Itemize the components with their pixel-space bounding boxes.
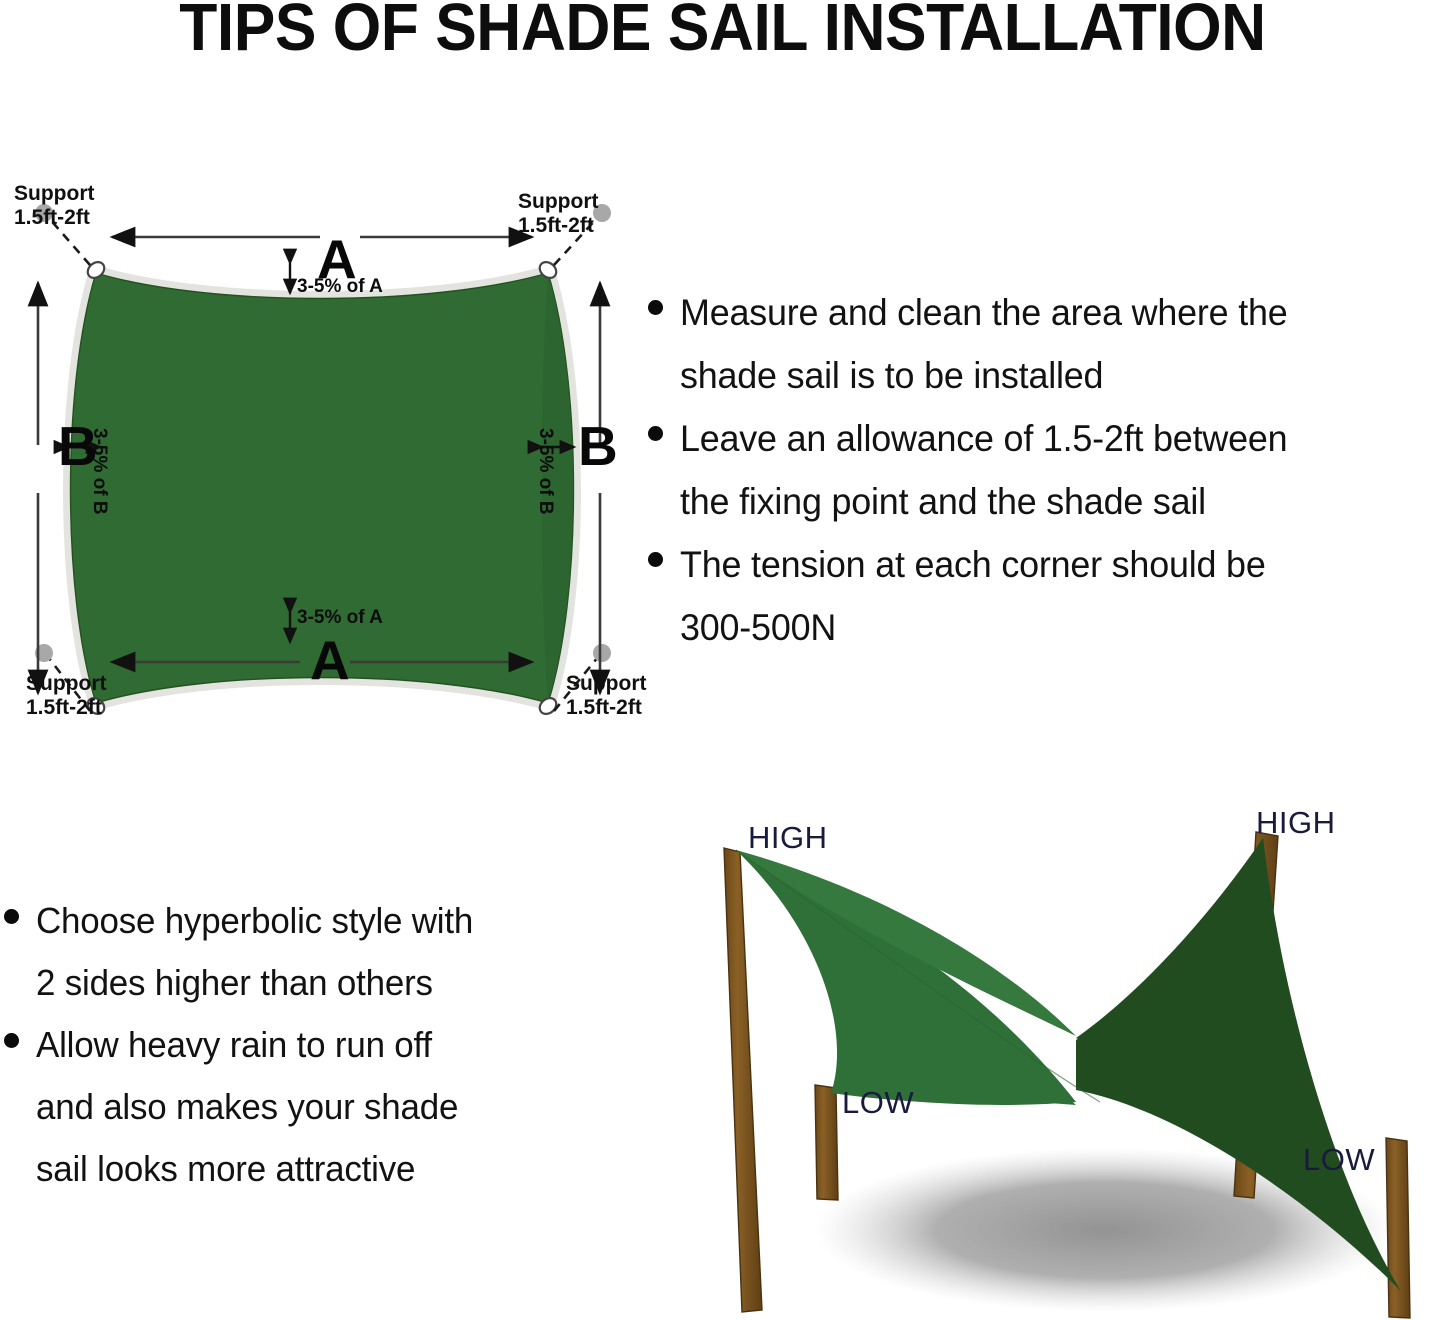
support-label-top-left: Support 1.5ft-2ft [14,182,94,230]
support-label-bottom-right: Support 1.5ft-2ft [566,672,646,720]
bullet-dot-icon [648,426,663,441]
post-low-left [815,1085,838,1200]
tip-text: Allow heavy rain to run off and also mak… [36,1014,458,1200]
support-label-bottom-left: Support 1.5ft-2ft [26,672,106,720]
label-low-left: LOW [842,1085,914,1121]
label-high-right: HIGH [1256,805,1336,841]
list-item: Leave an allowance of 1.5-2ft between th… [648,407,1445,533]
bullet-dot-icon [648,300,663,315]
support-dot-bottom-right [593,644,611,662]
support-label-line1: Support [14,182,94,205]
post-high-left [724,848,762,1312]
curve-label-right: 3-5% of B [534,428,556,515]
tip-text: Measure and clean the area where the sha… [680,281,1288,407]
label-low-right: LOW [1303,1142,1375,1178]
support-label-line1: Support [26,672,106,695]
dimension-letter-right-B: B [578,419,618,474]
tip-text: Choose hyperbolic style with 2 sides hig… [36,890,473,1014]
support-label-line2: 1.5ft-2ft [518,214,594,237]
bullet-dot-icon [4,909,19,924]
bullet-dot-icon [4,1033,19,1048]
support-label-line2: 1.5ft-2ft [26,696,102,719]
dimension-letter-bottom-A: A [310,633,350,688]
support-label-line2: 1.5ft-2ft [566,696,642,719]
support-label-line1: Support [518,190,598,213]
list-item: Allow heavy rain to run off and also mak… [4,1014,624,1200]
page-title: TIPS OF SHADE SAIL INSTALLATION [51,0,1395,61]
tip-text: The tension at each corner should be 300… [680,533,1266,659]
post-low-right [1386,1138,1410,1318]
hyperbolic-sail-diagram [680,790,1445,1320]
list-item: Choose hyperbolic style with 2 sides hig… [4,890,624,1014]
installation-tips-primary: Measure and clean the area where the sha… [648,281,1445,659]
label-high-left: HIGH [748,820,828,856]
support-label-line1: Support [566,672,646,695]
curve-label-bottom: 3-5% of A [297,607,383,629]
sail-tail-left [736,850,1076,1104]
support-label-line2: 1.5ft-2ft [14,206,90,229]
installation-tips-secondary: Choose hyperbolic style with 2 sides hig… [4,890,624,1200]
list-item: Measure and clean the area where the sha… [648,281,1445,407]
list-item: The tension at each corner should be 300… [648,533,1445,659]
tip-text: Leave an allowance of 1.5-2ft between th… [680,407,1287,533]
bullet-dot-icon [648,552,663,567]
curve-label-top: 3-5% of A [297,276,383,298]
curve-label-left: 3-5% of B [88,428,110,515]
support-label-top-right: Support 1.5ft-2ft [518,190,598,238]
